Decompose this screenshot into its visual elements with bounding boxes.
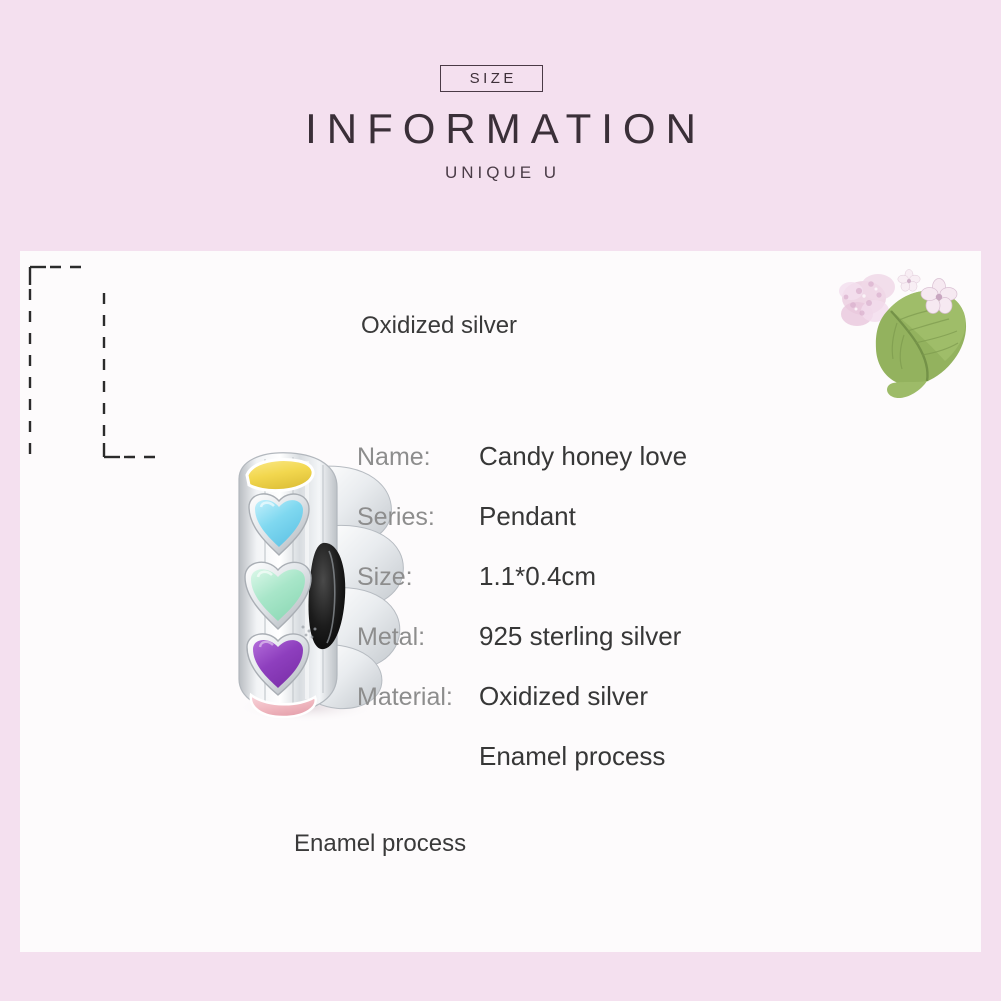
- spec-row-series: Series: Pendant: [357, 501, 917, 561]
- spec-label-series: Series:: [357, 503, 479, 532]
- spec-row-metal: Metal: 925 sterling silver: [357, 621, 917, 681]
- spec-label-size: Size:: [357, 563, 479, 592]
- product-spec-list: Name: Candy honey love Series: Pendant S…: [357, 441, 917, 801]
- leader-line-oxidized-silver: [20, 251, 90, 471]
- yellow-enamel-heart: [247, 460, 313, 491]
- info-card: Oxidized silver Enamel process: [20, 251, 981, 952]
- page-subtitle: UNIQUE U: [0, 163, 1001, 183]
- spec-label-metal: Metal:: [357, 623, 479, 652]
- size-badge: SIZE: [440, 65, 543, 92]
- page-title: INFORMATION: [0, 105, 1001, 153]
- size-badge-label: SIZE: [466, 70, 517, 87]
- spec-label-name: Name:: [357, 443, 479, 472]
- callout-label-enamel-process: Enamel process: [294, 830, 466, 858]
- spec-row-material: Material: Oxidized silver: [357, 681, 917, 741]
- spec-value-metal: 925 sterling silver: [479, 621, 681, 652]
- spec-value-size: 1.1*0.4cm: [479, 561, 596, 592]
- spec-row-size: Size: 1.1*0.4cm: [357, 561, 917, 621]
- lilac-blossom-cluster: [839, 274, 895, 326]
- spec-value-series: Pendant: [479, 501, 576, 532]
- leaf-shape: [876, 291, 966, 398]
- spec-row-name: Name: Candy honey love: [357, 441, 917, 501]
- white-blossom: [921, 279, 957, 314]
- callout-label-oxidized-silver: Oxidized silver: [361, 312, 517, 340]
- spec-row-material-continued: Enamel process: [357, 741, 917, 801]
- white-blossom-small: [898, 270, 920, 292]
- leader-line-enamel-process: [94, 291, 174, 471]
- header-banner: SIZE INFORMATION UNIQUE U: [0, 0, 1001, 251]
- lilac-flower-illustration: [831, 251, 981, 421]
- spec-value-name: Candy honey love: [479, 441, 687, 472]
- spec-value-material-continued: Enamel process: [479, 741, 665, 772]
- spec-value-material: Oxidized silver: [479, 681, 648, 712]
- spec-label-material: Material:: [357, 683, 479, 712]
